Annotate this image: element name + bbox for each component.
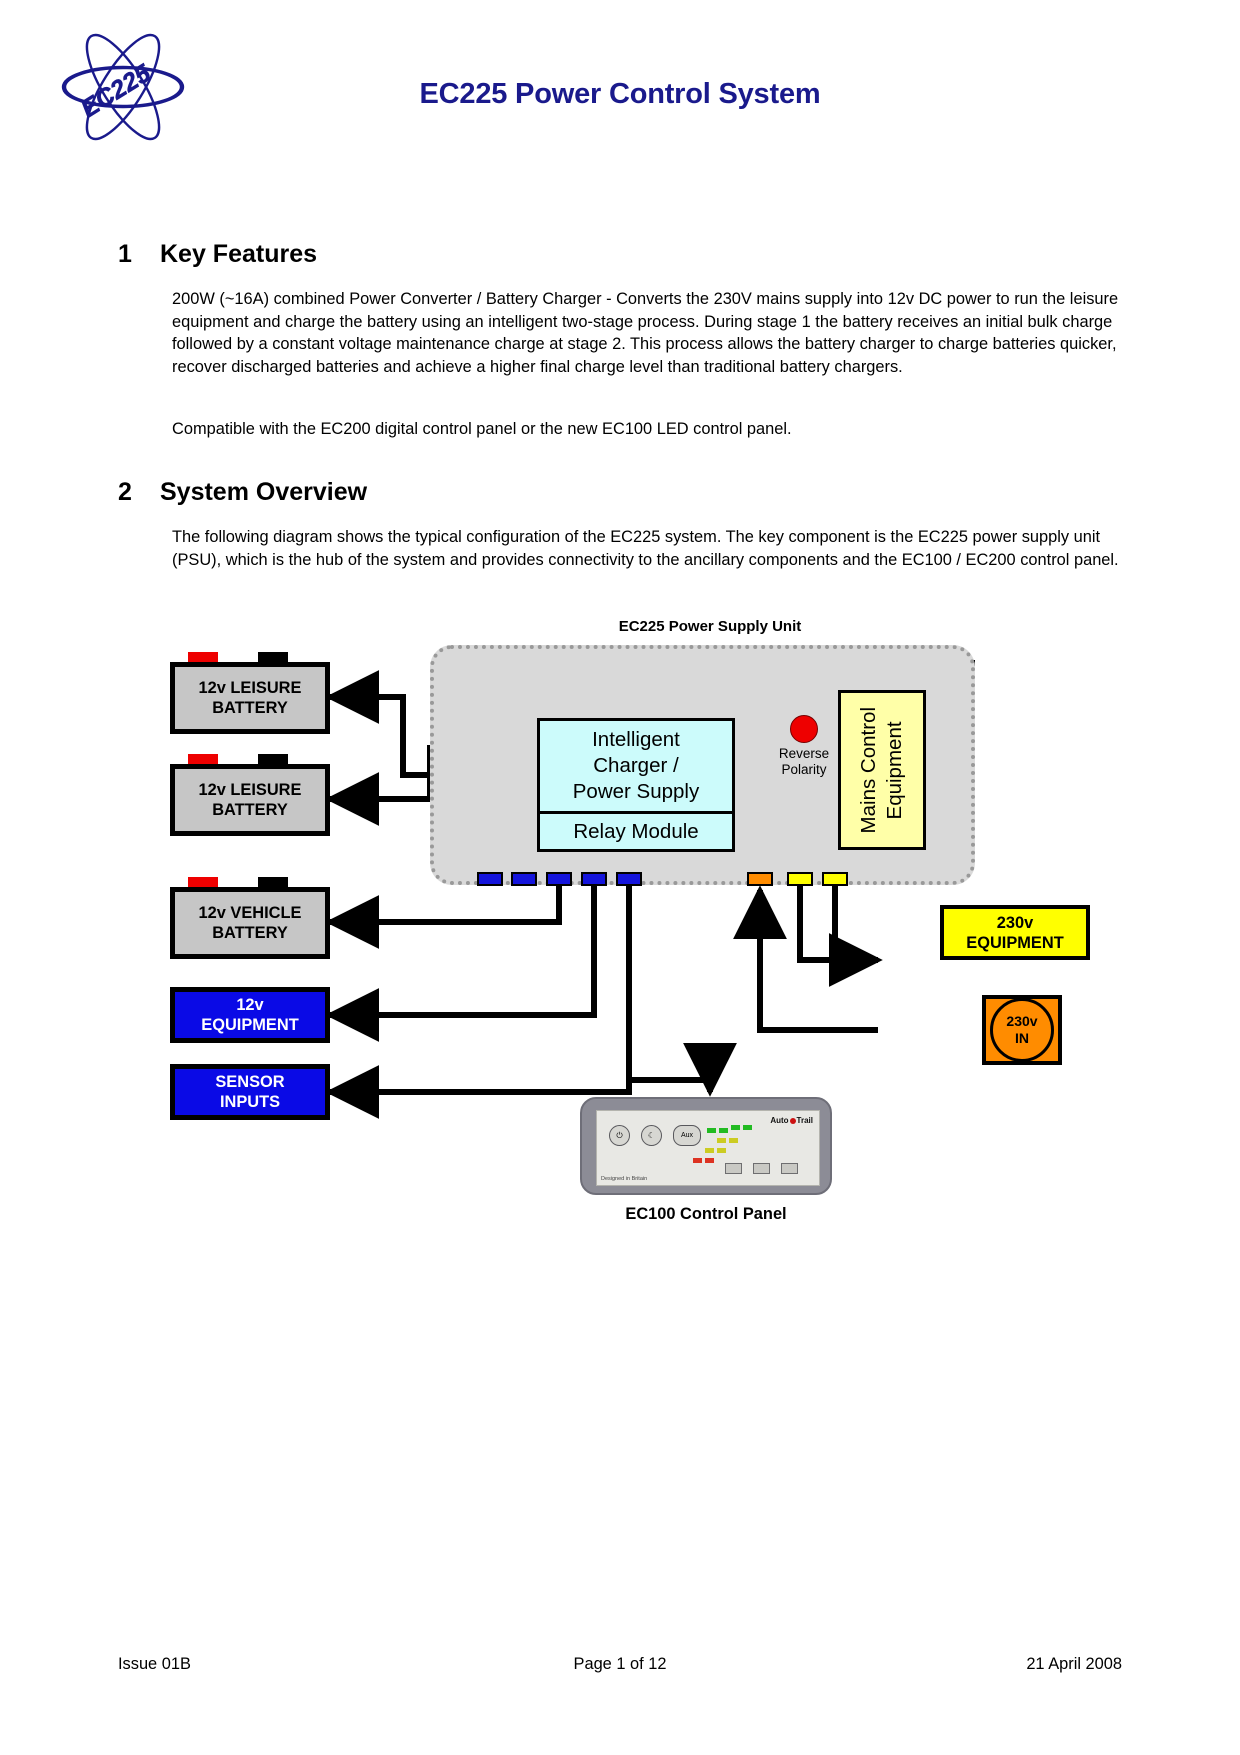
ac-inlet-terminal bbox=[747, 872, 773, 886]
charger-line-1: Intelligent bbox=[573, 727, 699, 753]
power-button-icon[interactable]: ⏻ bbox=[609, 1125, 630, 1146]
mains-inlet-block: 230v IN bbox=[982, 995, 1062, 1065]
relay-module-block: Relay Module bbox=[537, 814, 735, 852]
status-led-5 bbox=[717, 1138, 726, 1143]
mains-inlet-line-1: 230v bbox=[1006, 1013, 1037, 1030]
page-footer: Issue 01B Page 1 of 12 21 April 2008 bbox=[0, 1655, 1240, 1695]
ac-output-terminal-1 bbox=[787, 872, 813, 886]
ec225-atom-logo: EC225 bbox=[58, 22, 188, 152]
mains-inlet-socket-icon: 230v IN bbox=[990, 998, 1054, 1062]
dc-terminal-1 bbox=[477, 872, 503, 886]
status-led-4 bbox=[743, 1125, 752, 1130]
panel-fine-print: Designed in Britain bbox=[601, 1176, 647, 1182]
mains-control-equipment-block: Mains Control Equipment bbox=[838, 690, 926, 850]
leisure-battery-2-line-2: BATTERY bbox=[212, 800, 288, 820]
section-2-number: 2 bbox=[118, 478, 132, 507]
document-page: EC225 EC225 Power Control System 1 Key F… bbox=[0, 0, 1240, 1755]
ec100-control-panel[interactable]: ⏻ ☾ Aux AutoTrail Designed i bbox=[580, 1097, 832, 1195]
vehicle-battery-line-1: 12v VEHICLE bbox=[199, 903, 302, 923]
aux-button[interactable]: Aux bbox=[673, 1125, 701, 1146]
system-overview-diagram: EC225 Power Supply Unit Intelligent Char… bbox=[0, 600, 1240, 1260]
psu-caption: EC225 Power Supply Unit bbox=[500, 618, 920, 635]
section-1-paragraph-2: Compatible with the EC200 digital contro… bbox=[172, 418, 1120, 441]
sensor-inputs-line-2: INPUTS bbox=[220, 1092, 280, 1112]
leisure-battery-1-line-1: 12v LEISURE bbox=[199, 678, 302, 698]
gauge-readout-1 bbox=[725, 1163, 742, 1174]
leisure-battery-1: 12v LEISURE BATTERY bbox=[170, 662, 330, 734]
dc-terminal-2 bbox=[511, 872, 537, 886]
ec100-panel-face: ⏻ ☾ Aux AutoTrail Designed i bbox=[596, 1110, 820, 1186]
footer-date: 21 April 2008 bbox=[1026, 1655, 1122, 1674]
equipment-230v-line-1: 230v bbox=[997, 913, 1033, 933]
section-2-heading: System Overview bbox=[160, 478, 367, 507]
page-title: EC225 Power Control System bbox=[300, 78, 940, 111]
status-led-2 bbox=[719, 1128, 728, 1133]
gauge-readout-3 bbox=[781, 1163, 798, 1174]
equipment-230v-line-2: EQUIPMENT bbox=[966, 933, 1063, 953]
status-led-10 bbox=[705, 1158, 714, 1163]
equipment-12v-line-2: EQUIPMENT bbox=[201, 1015, 298, 1035]
mains-inlet-line-2: IN bbox=[1015, 1030, 1029, 1047]
intelligent-charger-block: Intelligent Charger / Power Supply bbox=[537, 718, 735, 814]
equipment-12v-line-1: 12v bbox=[236, 995, 263, 1015]
status-led-9 bbox=[693, 1158, 702, 1163]
charger-line-2: Charger / bbox=[573, 753, 699, 779]
charger-line-3: Power Supply bbox=[573, 779, 699, 805]
gauge-readout-2 bbox=[753, 1163, 770, 1174]
status-led-8 bbox=[717, 1148, 726, 1153]
reverse-polarity-led-icon bbox=[790, 715, 818, 743]
ec100-panel-caption: EC100 Control Panel bbox=[560, 1205, 852, 1224]
dc-terminal-5 bbox=[616, 872, 642, 886]
vehicle-battery: 12v VEHICLE BATTERY bbox=[170, 887, 330, 959]
moon-button-icon[interactable]: ☾ bbox=[641, 1125, 662, 1146]
mains-control-label: Mains Control Equipment bbox=[856, 707, 908, 833]
section-1-heading: Key Features bbox=[160, 240, 317, 269]
section-1-number: 1 bbox=[118, 240, 132, 269]
leisure-battery-2-line-1: 12v LEISURE bbox=[199, 780, 302, 800]
sensor-inputs-block: SENSOR INPUTS bbox=[170, 1064, 330, 1120]
status-led-6 bbox=[729, 1138, 738, 1143]
dc-terminal-4 bbox=[581, 872, 607, 886]
leisure-battery-1-line-2: BATTERY bbox=[212, 698, 288, 718]
section-1-paragraph-1: 200W (~16A) combined Power Converter / B… bbox=[172, 288, 1120, 378]
status-led-7 bbox=[705, 1148, 714, 1153]
status-led-1 bbox=[707, 1128, 716, 1133]
autotrail-brand-logo: AutoTrail bbox=[770, 1116, 813, 1125]
page-header: EC225 EC225 Power Control System bbox=[0, 0, 1240, 170]
status-led-3 bbox=[731, 1125, 740, 1130]
ac-output-terminal-2 bbox=[822, 872, 848, 886]
equipment-12v-block: 12v EQUIPMENT bbox=[170, 987, 330, 1043]
vehicle-battery-line-2: BATTERY bbox=[212, 923, 288, 943]
equipment-230v-block: 230v EQUIPMENT bbox=[940, 905, 1090, 960]
leisure-battery-2: 12v LEISURE BATTERY bbox=[170, 764, 330, 836]
dc-terminal-3 bbox=[546, 872, 572, 886]
sensor-inputs-line-1: SENSOR bbox=[215, 1072, 284, 1092]
section-2-paragraph-1: The following diagram shows the typical … bbox=[172, 526, 1120, 571]
